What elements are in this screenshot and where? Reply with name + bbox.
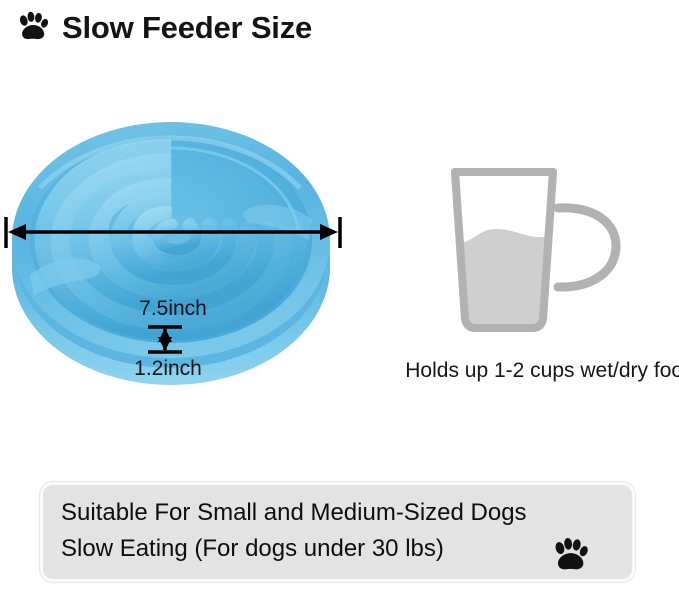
suitability-banner: Suitable For Small and Medium-Sized Dogs…	[40, 482, 635, 582]
bowl-width-label: 7.5inch	[0, 298, 346, 319]
banner-line-1: Suitable For Small and Medium-Sized Dogs	[61, 495, 527, 531]
page-title-bar: Slow Feeder Size	[16, 4, 312, 50]
capacity-figure: Holds up 1-2 cups wet/dry food	[420, 150, 679, 390]
page-title: Slow Feeder Size	[62, 12, 312, 43]
banner-text-block: Suitable For Small and Medium-Sized Dogs…	[61, 495, 527, 567]
capacity-caption: Holds up 1-2 cups wet/dry food	[340, 360, 679, 381]
paw-print-icon	[16, 10, 50, 44]
product-bowl-figure: 7.5inch 1.2inch	[0, 100, 350, 400]
banner-line-2: Slow Eating (For dogs under 30 lbs)	[61, 531, 527, 567]
bowl-height-label: 1.2inch	[58, 358, 278, 379]
slow-feeder-bowl-illustration	[0, 100, 350, 400]
measuring-cup-icon	[420, 150, 650, 350]
paw-print-icon	[551, 536, 590, 575]
